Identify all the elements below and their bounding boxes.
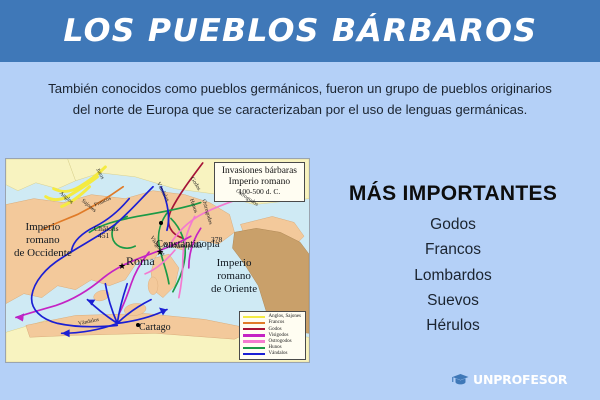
list-item: Francos <box>312 237 594 262</box>
most-important-heading: MÁS IMPORTANTES <box>312 182 594 206</box>
cartago-dot-marker <box>136 323 140 327</box>
page-title: Los pueblos bárbaros <box>63 13 537 49</box>
intro-paragraph: También conocidos como pueblos germánico… <box>40 78 560 121</box>
map-titlebox-line3: 100-500 d. C. <box>222 188 297 197</box>
map-label-roma: Roma <box>126 254 155 268</box>
map-label-cartago: Cartago <box>139 322 171 334</box>
graduation-cap-icon <box>452 373 469 386</box>
map-titlebox: Invasiones bárbaras Imperio romano 100-5… <box>214 162 305 202</box>
most-important-list: Godos Francos Lombardos Suevos Hérulos <box>312 212 594 338</box>
legend-label: Visigodos <box>269 333 289 338</box>
danube-dot-marker <box>159 221 163 225</box>
most-important-section: MÁS IMPORTANTES Godos Francos Lombardos … <box>312 182 594 338</box>
legend-label: Anglos, Sajones <box>269 314 302 319</box>
map-titlebox-line1: Invasiones bárbaras <box>222 166 297 177</box>
map-label-adrianopolis: Adrianópolis <box>163 242 202 251</box>
legend-label: Vándalos <box>269 351 288 356</box>
unprofesor-logo[interactable]: unProfesor <box>452 372 567 387</box>
list-item: Godos <box>312 212 594 237</box>
legend-swatch-francos <box>243 322 265 324</box>
legend-swatch-hunos <box>243 347 265 349</box>
legend-swatch-godos <box>243 328 265 330</box>
legend-label: Francos <box>269 320 285 325</box>
legend-swatch-ostrogodos <box>243 340 265 342</box>
map-label-chalons-year: 451 <box>98 232 109 241</box>
list-item: Lombardos <box>312 263 594 288</box>
map-label-empire-west: Imperio romano de Occidente <box>14 221 72 260</box>
map-label-empire-east: Imperio romano de Oriente <box>211 257 257 296</box>
roma-star-marker: ★ <box>118 262 126 271</box>
legend-item: Vándalos <box>243 351 302 357</box>
legend-label: Ostrogodos <box>269 339 292 344</box>
header-banner: Los pueblos bárbaros <box>0 0 600 62</box>
legend-label: Hunos <box>269 345 282 350</box>
list-item: Hérulos <box>312 313 594 338</box>
legend-label: Godos <box>269 327 282 332</box>
unprofesor-wordmark: unProfesor <box>473 372 567 387</box>
list-item: Suevos <box>312 288 594 313</box>
legend-swatch-vandalos <box>243 353 265 355</box>
legend-swatch-anglos-sajones <box>243 316 265 318</box>
barbarian-invasions-map: Invasiones bárbaras Imperio romano 100-5… <box>5 158 310 363</box>
map-label-adrianopolis-year: 378 <box>211 236 222 245</box>
legend-swatch-visigodos <box>243 334 265 336</box>
map-legend: Anglos, Sajones Francos Godos Visigodos … <box>239 311 307 360</box>
